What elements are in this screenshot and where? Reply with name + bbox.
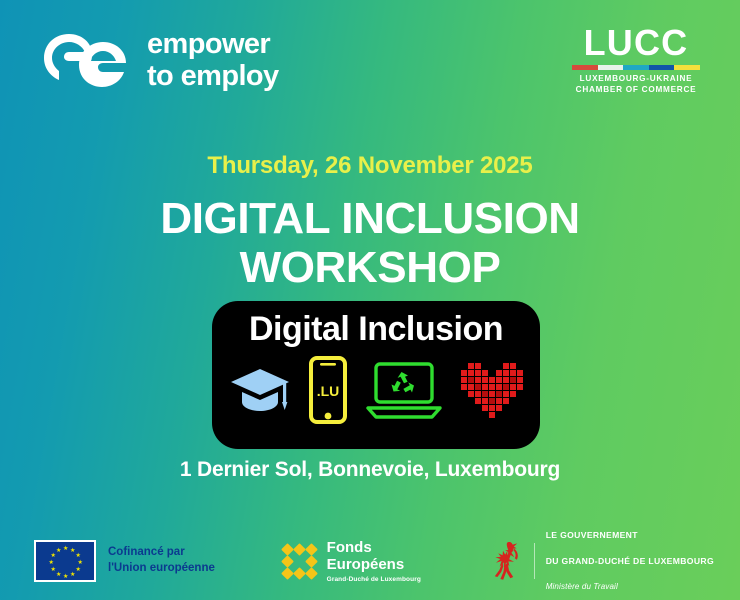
eu-funding-logo: ★ ★ ★ ★ ★ ★ ★ ★ ★ ★ ★ ★ Cofinancé par l'… <box>34 540 215 582</box>
pixel-heart-cell <box>461 363 523 418</box>
smartphone-lu-icon: .LU <box>309 356 347 424</box>
page-title: DIGITAL INCLUSION WORKSHOP <box>0 194 740 293</box>
fonds-title: Fonds Européens <box>327 539 421 573</box>
poster-footer: ★ ★ ★ ★ ★ ★ ★ ★ ★ ★ ★ ★ Cofinancé par l'… <box>0 522 740 600</box>
digital-inclusion-card: Digital Inclusion .LU <box>212 301 540 449</box>
eu-flag-icon: ★ ★ ★ ★ ★ ★ ★ ★ ★ ★ ★ ★ <box>34 540 96 582</box>
lucc-color-bar <box>572 65 700 70</box>
gov-line-2: DU GRAND-DUCHÉ DE LUXEMBOURG <box>546 555 714 568</box>
gov-divider <box>534 543 535 579</box>
fonds-dots-icon <box>283 545 316 578</box>
card-title: Digital Inclusion <box>249 311 503 348</box>
lucc-acronym: LUCC <box>584 25 689 61</box>
fonds-subtitle: Grand-Duché de Luxembourg <box>327 576 421 583</box>
card-icon-row: .LU <box>212 356 540 424</box>
event-venue: 1 Dernier Sol, Bonnevoie, Luxembourg <box>0 458 740 482</box>
empower-to-employ-logo: empower to employ <box>42 28 279 93</box>
e2e-mark-icon <box>42 32 130 88</box>
lucc-subtitle: LUXEMBOURG-UKRAINE CHAMBER OF COMMERCE <box>576 74 697 96</box>
event-date: Thursday, 26 November 2025 <box>0 152 740 180</box>
pixel-heart-icon <box>461 363 523 418</box>
smartphone-lu-cell: .LU <box>309 356 347 424</box>
poster-canvas: empower to employ LUCC LUXEMBOURG-UKRAIN… <box>0 0 740 600</box>
fonds-europeens-logo: Fonds Européens Grand-Duché de Luxembour… <box>283 539 421 583</box>
laptop-recycle-icon <box>365 360 443 420</box>
luxembourg-government-logo: LE GOUVERNEMENT DU GRAND-DUCHÉ DE LUXEMB… <box>489 516 714 600</box>
graduation-cap-icon <box>229 365 291 415</box>
brand-wordmark: empower to employ <box>147 28 279 93</box>
svg-text:.LU: .LU <box>317 383 340 399</box>
gov-line-1: LE GOUVERNEMENT <box>546 529 714 542</box>
lucc-logo: LUCC LUXEMBOURG-UKRAINE CHAMBER OF COMME… <box>570 25 702 96</box>
eu-funding-text: Cofinancé par l'Union européenne <box>108 545 215 576</box>
laptop-recycle-cell <box>365 360 443 420</box>
gov-line-3: Ministère du Travail <box>546 581 714 593</box>
luxembourg-lion-icon <box>489 539 523 583</box>
gov-text-block: LE GOUVERNEMENT DU GRAND-DUCHÉ DE LUXEMB… <box>546 516 714 600</box>
graduation-cap-cell <box>229 365 291 415</box>
poster-header: empower to employ LUCC LUXEMBOURG-UKRAIN… <box>0 0 740 120</box>
